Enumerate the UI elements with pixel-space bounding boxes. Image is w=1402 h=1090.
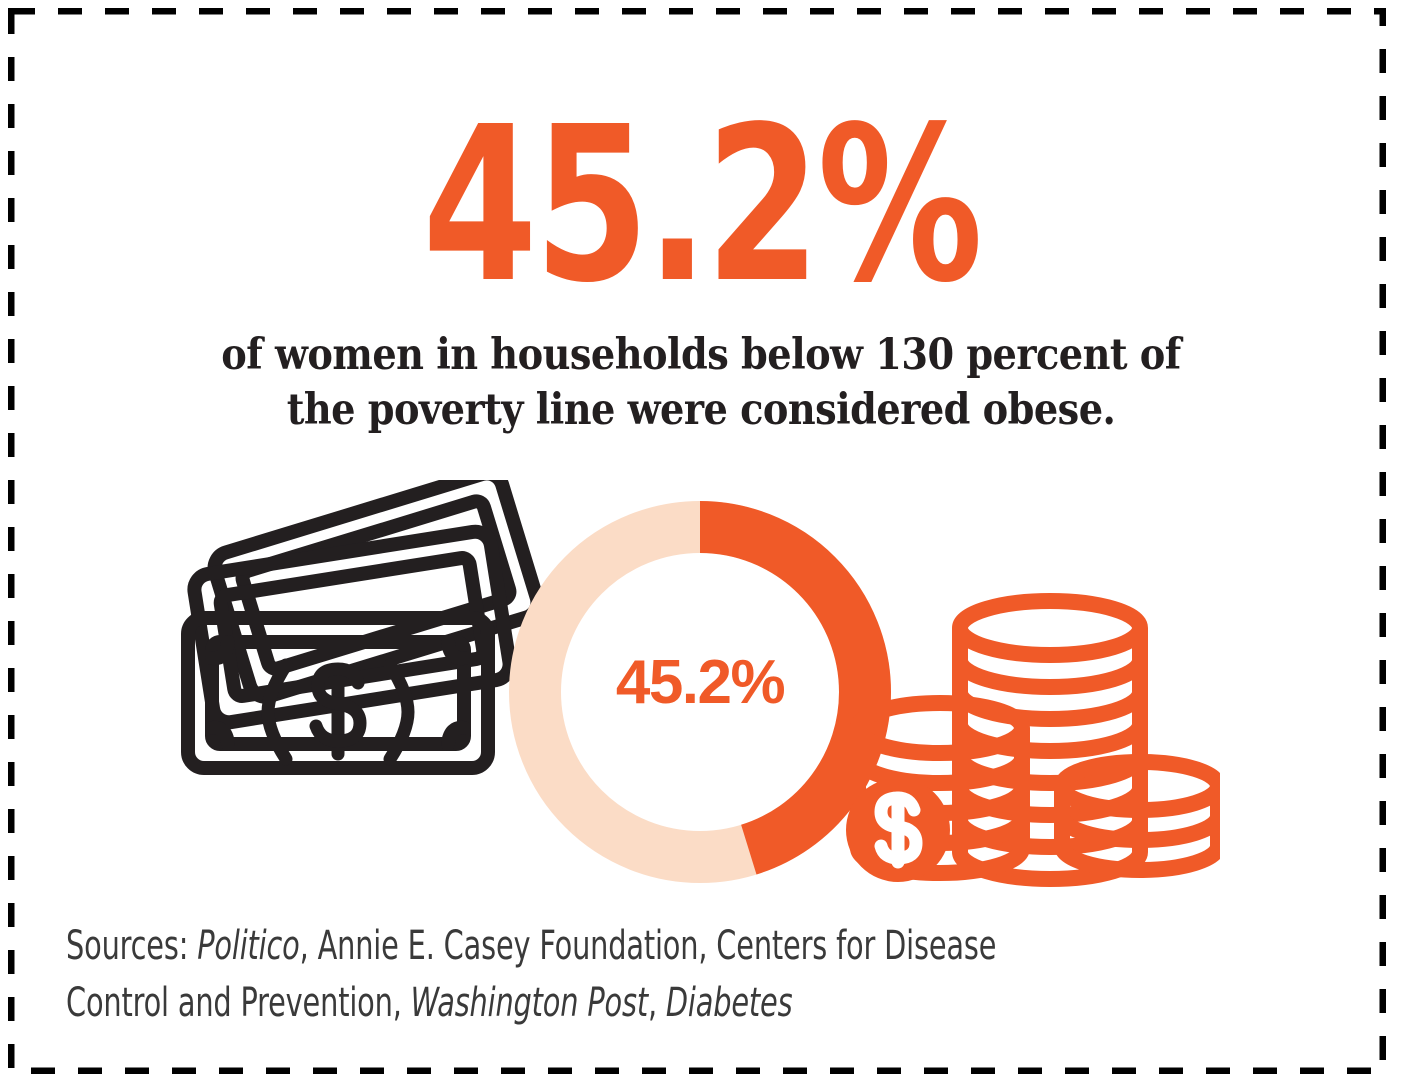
banknotes-icon [168,480,548,790]
sources-line-2-prefix: Control and Prevention, [66,980,411,1026]
source-diabetes: Diabetes [666,980,793,1026]
graphic-band: 45.2% [0,470,1402,900]
dollar-coin-icon [846,778,950,882]
sources-footnote: Sources: Politico, Annie E. Casey Founda… [66,918,1246,1032]
infographic-canvas: 45.2% of women in households below 130 p… [0,0,1402,1090]
source-politico: Politico [197,923,299,969]
source-washington-post: Washington Post [411,980,648,1026]
sources-line-1: Sources: Politico, Annie E. Casey Founda… [66,918,1010,975]
coin-stacks-icon [840,590,1220,890]
subtitle-line-1: of women in households below 130 percent… [184,328,1218,383]
donut-center-label: 45.2% [510,652,890,714]
subtitle-text: of women in households below 130 percent… [120,328,1282,438]
sources-line-1-rest: , Annie E. Casey Foundation, Centers for… [300,923,997,969]
sources-line-2-sep: , [648,980,666,1026]
sources-prefix: Sources: [66,923,197,969]
subtitle-line-2: the poverty line were considered obese. [184,383,1218,438]
sources-line-2: Control and Prevention, Washington Post,… [66,975,1010,1032]
headline-statistic: 45.2% [98,108,1304,305]
